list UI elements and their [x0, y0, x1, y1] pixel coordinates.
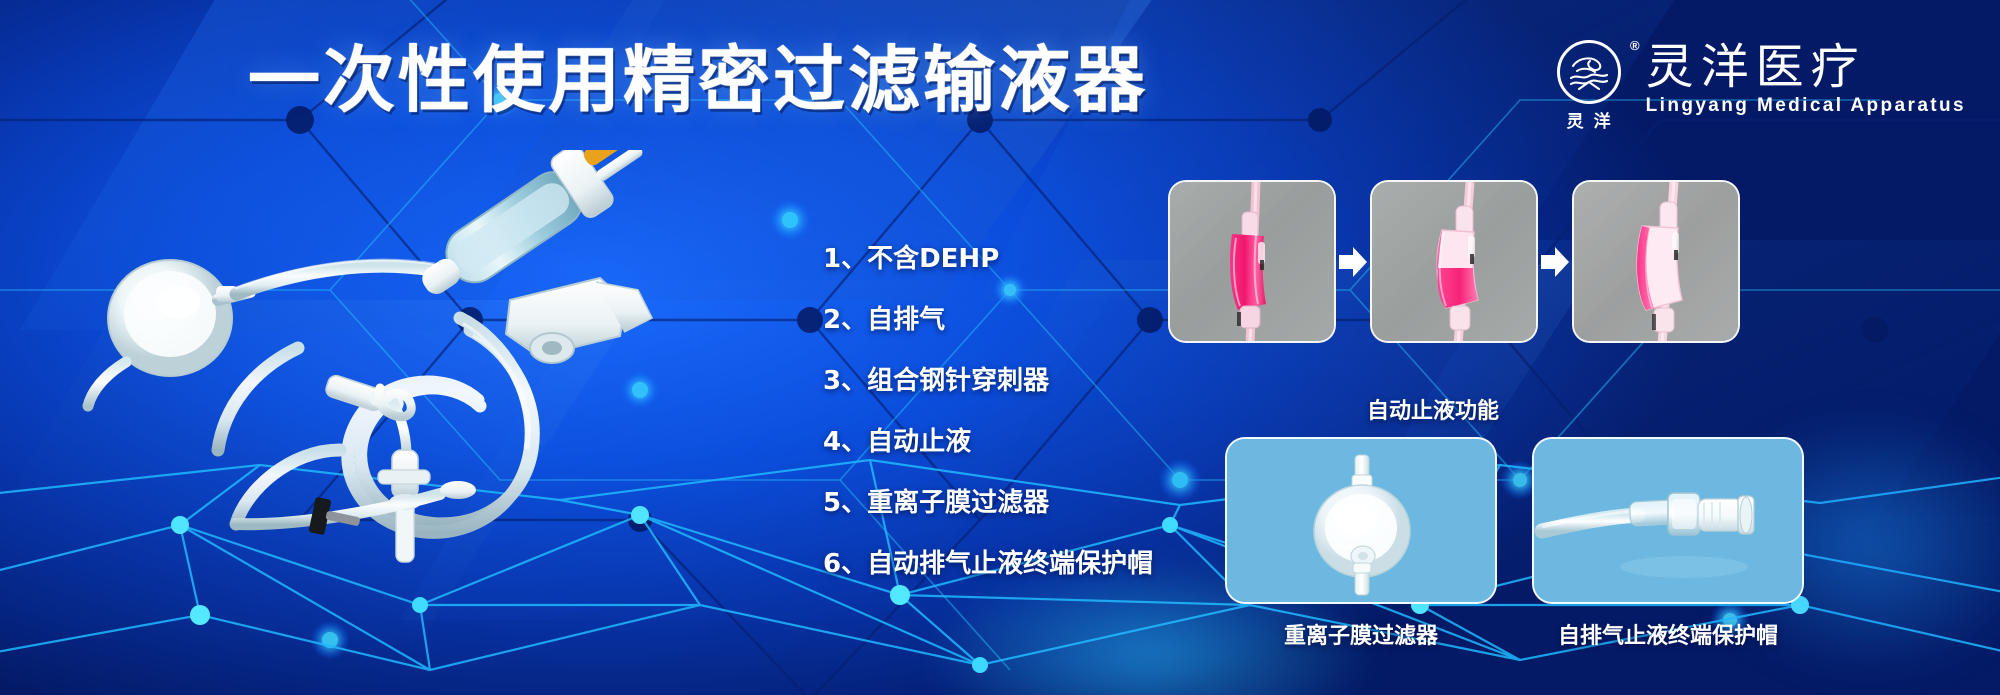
- infusion-set-photo: [40, 150, 740, 570]
- feature-item-3: 3、组合钢针穿刺器: [823, 350, 1153, 411]
- feature-item-5: 5、重离子膜过滤器: [823, 472, 1153, 533]
- demo-caption: 自动止液功能: [1168, 393, 1698, 425]
- company-name-en: Lingyang Medical Apparatus: [1646, 95, 1966, 117]
- auto-stop-demo-row: [1168, 180, 1740, 343]
- feature-item-6: 6、自动排气止液终端保护帽: [823, 533, 1153, 594]
- feature-item-2: 2、自排气: [823, 289, 1153, 350]
- company-name-cn: 灵洋医疗: [1646, 42, 1966, 92]
- terminal-cap-artwork: [1534, 439, 1804, 604]
- panel-heavy-ion-filter: [1225, 437, 1497, 604]
- product-banner: 一次性使用精密过滤输液器 ® 灵洋 灵洋医疗 Lingyang Med: [0, 0, 2000, 695]
- registered-trademark-icon: ®: [1630, 38, 1640, 53]
- lingyang-circular-emblem-icon: [1557, 40, 1621, 104]
- panel-terminal-cap: [1532, 437, 1804, 604]
- caption-heavy-ion-filter: 重离子膜过滤器: [1225, 618, 1497, 650]
- brand-logo: ® 灵洋 灵洋医疗 Lingyang Medical Apparatus: [1550, 40, 1966, 132]
- roller-clamp: [506, 278, 652, 363]
- demo-photo-step-1: [1168, 180, 1336, 343]
- brand-name-block: 灵洋医疗 Lingyang Medical Apparatus: [1646, 40, 1966, 117]
- feature-item-4: 4、自动止液: [823, 411, 1153, 472]
- arrow-right-icon-1: [1336, 245, 1370, 279]
- round-filter-part: [88, 260, 250, 406]
- demo-photo-step-3: [1572, 180, 1740, 343]
- banner-title: 一次性使用精密过滤输液器: [248, 44, 1148, 116]
- logo-sub-text: 灵洋: [1557, 107, 1621, 132]
- chamber-empty-artwork: [1574, 182, 1740, 343]
- caption-terminal-cap: 自排气止液终端保护帽: [1532, 618, 1804, 650]
- chamber-half-artwork: [1372, 182, 1538, 343]
- emblem-artwork: [1561, 44, 1617, 100]
- feature-list: 1、不含DEHP 2、自排气 3、组合钢针穿刺器 4、自动止液 5、重离子膜过滤…: [823, 228, 1153, 594]
- chamber-full-artwork: [1170, 182, 1336, 343]
- feature-item-1: 1、不含DEHP: [823, 228, 1153, 289]
- logo-emblem: ® 灵洋: [1550, 40, 1628, 132]
- heavy-ion-filter-artwork: [1227, 439, 1497, 604]
- demo-photo-step-2: [1370, 180, 1538, 343]
- part-panel-row: [1225, 437, 1804, 604]
- arrow-right-icon-2: [1538, 245, 1572, 279]
